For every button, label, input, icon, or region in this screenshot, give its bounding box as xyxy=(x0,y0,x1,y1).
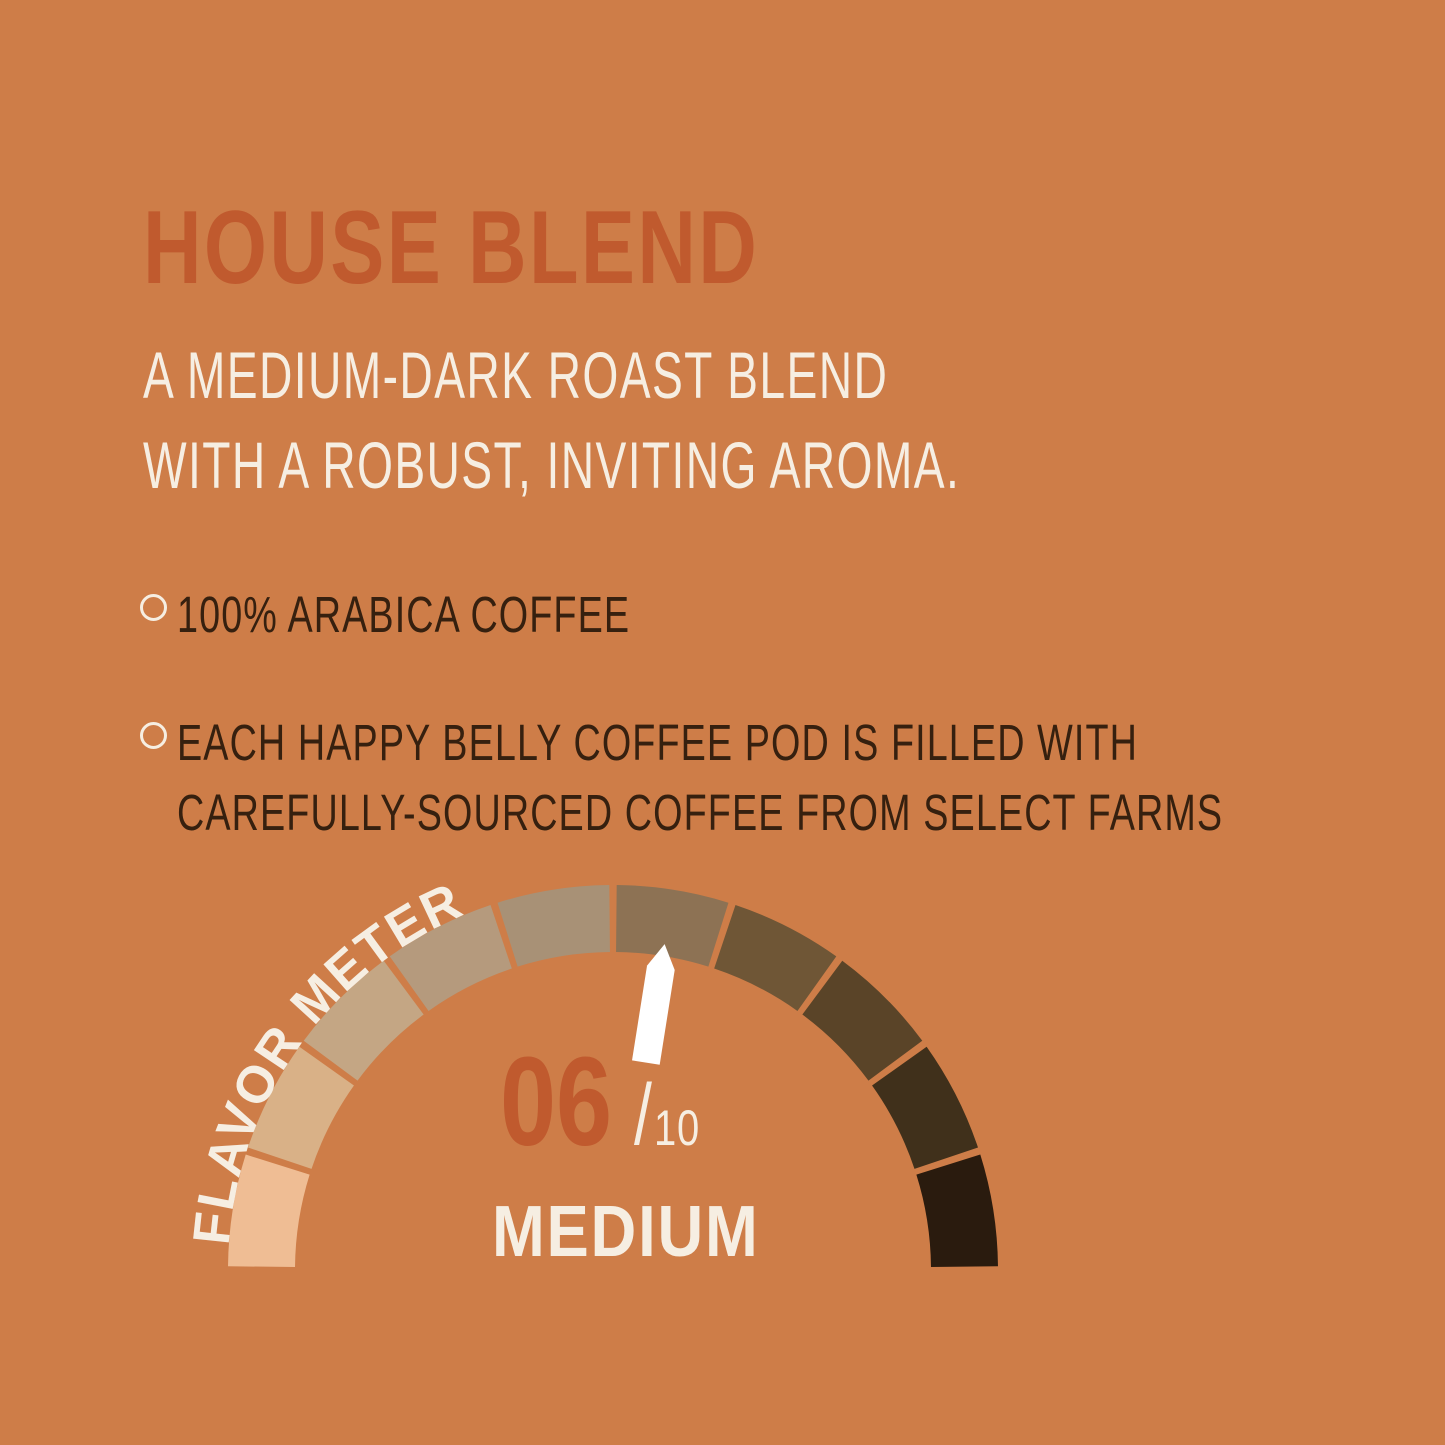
bullet-line: EACH HAPPY BELLY COFFEE POD IS FILLED WI… xyxy=(177,708,1223,778)
bullet-circle-icon xyxy=(140,594,167,621)
product-infographic-card: HOUSE BLEND A MEDIUM-DARK ROAST BLEND WI… xyxy=(0,0,1445,1445)
flavor-score: 06 / 10 xyxy=(500,1046,712,1158)
bullet-circle-icon xyxy=(140,722,167,749)
feature-bullet-sourcing: EACH HAPPY BELLY COFFEE POD IS FILLED WI… xyxy=(140,708,1445,848)
product-subtitle: A MEDIUM-DARK ROAST BLEND WITH A ROBUST,… xyxy=(143,330,960,510)
gauge-caption-text: FLAVOR METER xyxy=(183,880,472,1247)
gauge-segment-6 xyxy=(616,885,728,967)
bullet-line: 100% ARABICA COFFEE xyxy=(177,580,630,650)
flavor-score-value: 06 xyxy=(500,1046,612,1158)
gauge-segment-10 xyxy=(916,1155,998,1267)
subtitle-line-1: A MEDIUM-DARK ROAST BLEND xyxy=(143,330,960,420)
flavor-level-label: MEDIUM xyxy=(492,1196,760,1268)
flavor-score-separator: / xyxy=(634,1072,652,1158)
flavor-score-max: 10 xyxy=(654,1102,700,1154)
subtitle-line-2: WITH A ROBUST, INVITING AROMA. xyxy=(143,420,960,510)
feature-bullet-arabica: 100% ARABICA COFFEE xyxy=(140,580,789,650)
gauge-segment-5 xyxy=(498,885,610,967)
bullet-line: CAREFULLY-SOURCED COFFEE FROM SELECT FAR… xyxy=(177,778,1223,848)
feature-bullet-text: 100% ARABICA COFFEE xyxy=(177,580,630,650)
feature-bullet-text: EACH HAPPY BELLY COFFEE POD IS FILLED WI… xyxy=(177,708,1223,848)
page-title: HOUSE BLEND xyxy=(143,196,759,300)
